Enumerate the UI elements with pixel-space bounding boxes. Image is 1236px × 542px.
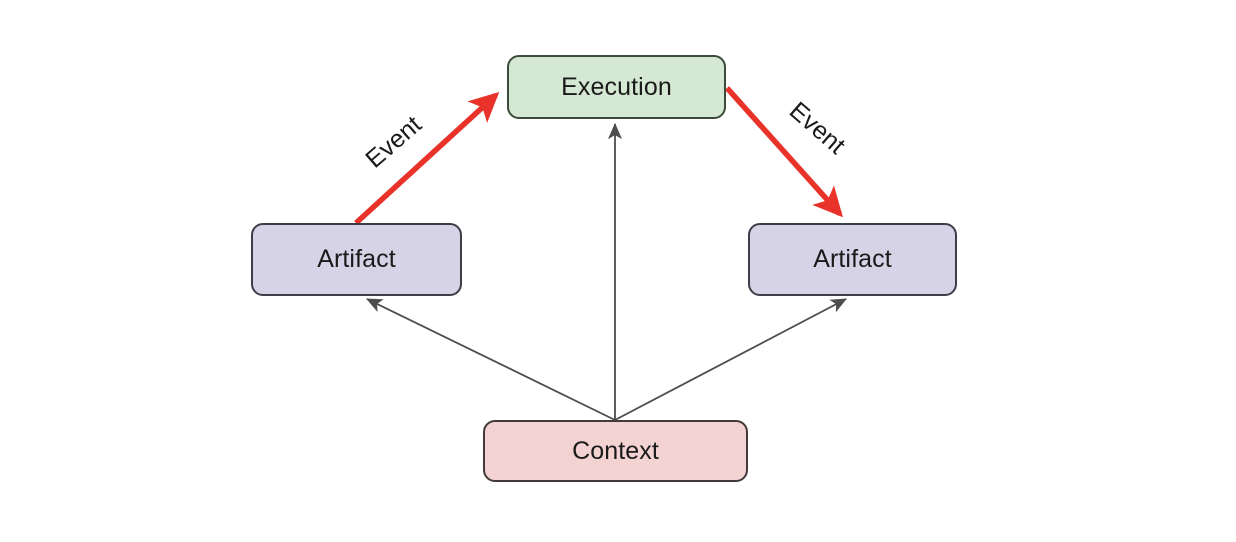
edge-context-to-artifact-left [367, 299, 615, 420]
diagram-canvas: Execution Artifact Artifact Context Even… [0, 0, 1236, 542]
node-execution-label: Execution [561, 75, 672, 100]
node-context[interactable]: Context [483, 420, 748, 482]
node-context-label: Context [572, 439, 659, 464]
node-execution[interactable]: Execution [507, 55, 726, 119]
node-artifact-left-label: Artifact [317, 247, 396, 272]
node-artifact-left[interactable]: Artifact [251, 223, 462, 296]
node-artifact-right-label: Artifact [813, 247, 892, 272]
node-artifact-right[interactable]: Artifact [748, 223, 957, 296]
edge-context-to-artifact-right [615, 299, 846, 420]
